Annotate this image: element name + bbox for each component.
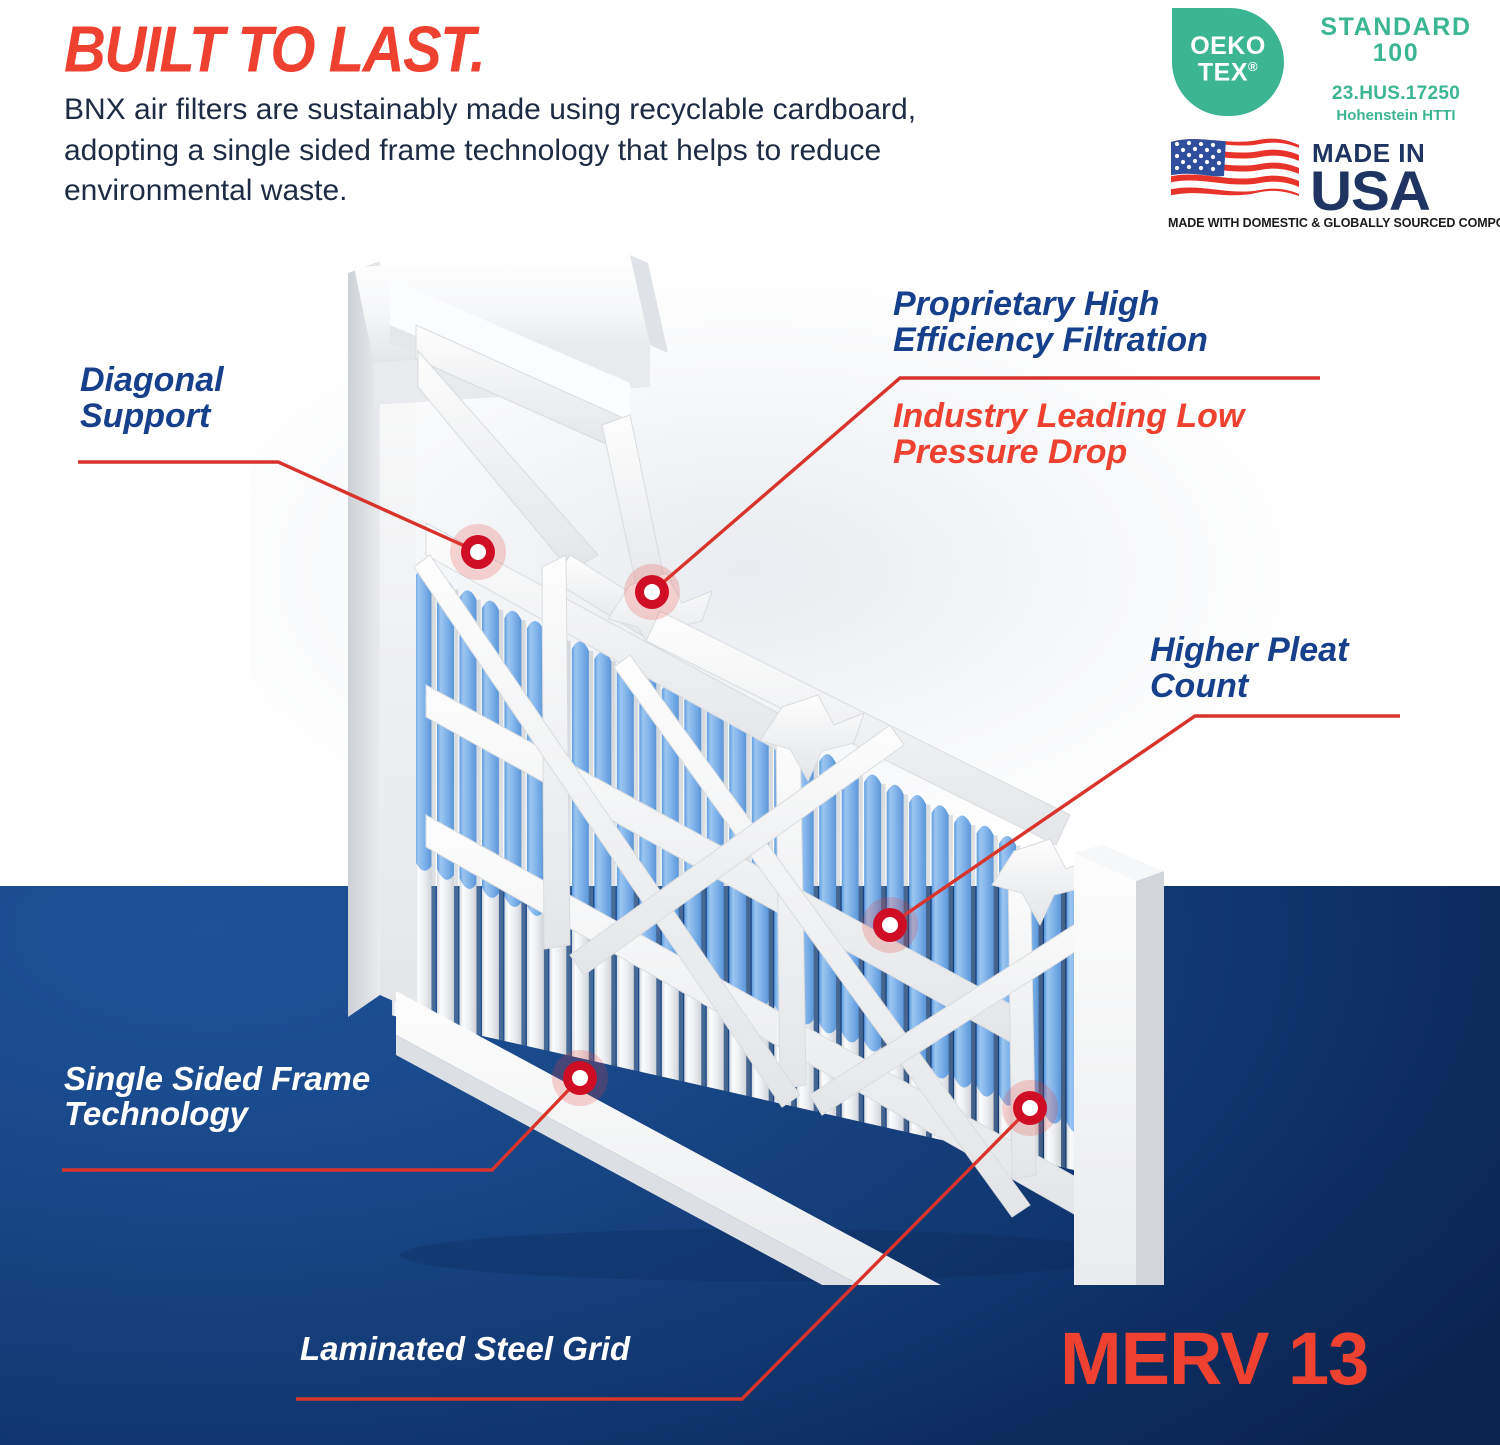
- callout-proprietary-filtration: Proprietary High Efficiency Filtration: [893, 286, 1208, 358]
- oeko-line-1: OEKO: [1190, 32, 1266, 60]
- callout-ssf-line2: Technology: [64, 1097, 370, 1132]
- callout-diagonal-support: Diagonal Support: [80, 362, 224, 434]
- callout-pleat-count: Higher Pleat Count: [1150, 632, 1348, 704]
- registered-mark-icon: ®: [1248, 59, 1258, 74]
- page-title: BUILT TO LAST.: [64, 12, 484, 87]
- frame-right-post: [1074, 845, 1164, 1285]
- callout-diagonal-line1: Diagonal: [80, 362, 224, 398]
- oeko-tex-wordmark: OEKO TEX®: [1172, 34, 1284, 85]
- standard-number: 100: [1296, 40, 1496, 66]
- callout-pressure-line2: Pressure Drop: [893, 434, 1244, 470]
- callout-diagonal-line2: Support: [80, 398, 224, 434]
- callout-laminated-steel-grid: Laminated Steel Grid: [300, 1332, 630, 1367]
- oeko-standard-text: STANDARD 100 23.HUS.17250 Hohenstein HTT…: [1296, 14, 1496, 124]
- callout-pressure-line1: Industry Leading Low: [893, 398, 1244, 434]
- oeko-line-2: TEX: [1198, 58, 1248, 86]
- cert-institute: Hohenstein HTTI: [1296, 107, 1496, 124]
- standard-label: STANDARD: [1296, 14, 1496, 40]
- infographic-canvas: BUILT TO LAST. BNX air filters are susta…: [0, 0, 1500, 1445]
- page-subtitle: BNX air filters are sustainably made usi…: [64, 90, 924, 212]
- made-in-usa-badge: MADE IN USA MADE WITH DOMESTIC & GLOBALL…: [1168, 136, 1498, 234]
- callout-pleat-line2: Count: [1150, 668, 1348, 704]
- oeko-tex-badge: OEKO TEX®: [1172, 8, 1284, 116]
- callout-pressure-drop: Industry Leading Low Pressure Drop: [893, 398, 1244, 470]
- callout-proprietary-line1: Proprietary High: [893, 286, 1208, 322]
- callout-steel-line1: Laminated Steel Grid: [300, 1332, 630, 1367]
- cert-number: 23.HUS.17250: [1296, 83, 1496, 105]
- usa-footnote: MADE WITH DOMESTIC & GLOBALLY SOURCED CO…: [1168, 216, 1498, 230]
- merv-rating-label: MERV 13: [1060, 1322, 1368, 1396]
- callout-proprietary-line2: Efficiency Filtration: [893, 322, 1208, 358]
- usa-flag-icon: [1168, 136, 1302, 208]
- usa-label: USA: [1310, 158, 1430, 223]
- callout-ssf-line1: Single Sided Frame: [64, 1062, 370, 1097]
- callout-pleat-line1: Higher Pleat: [1150, 632, 1348, 668]
- callout-single-sided-frame: Single Sided Frame Technology: [64, 1062, 370, 1132]
